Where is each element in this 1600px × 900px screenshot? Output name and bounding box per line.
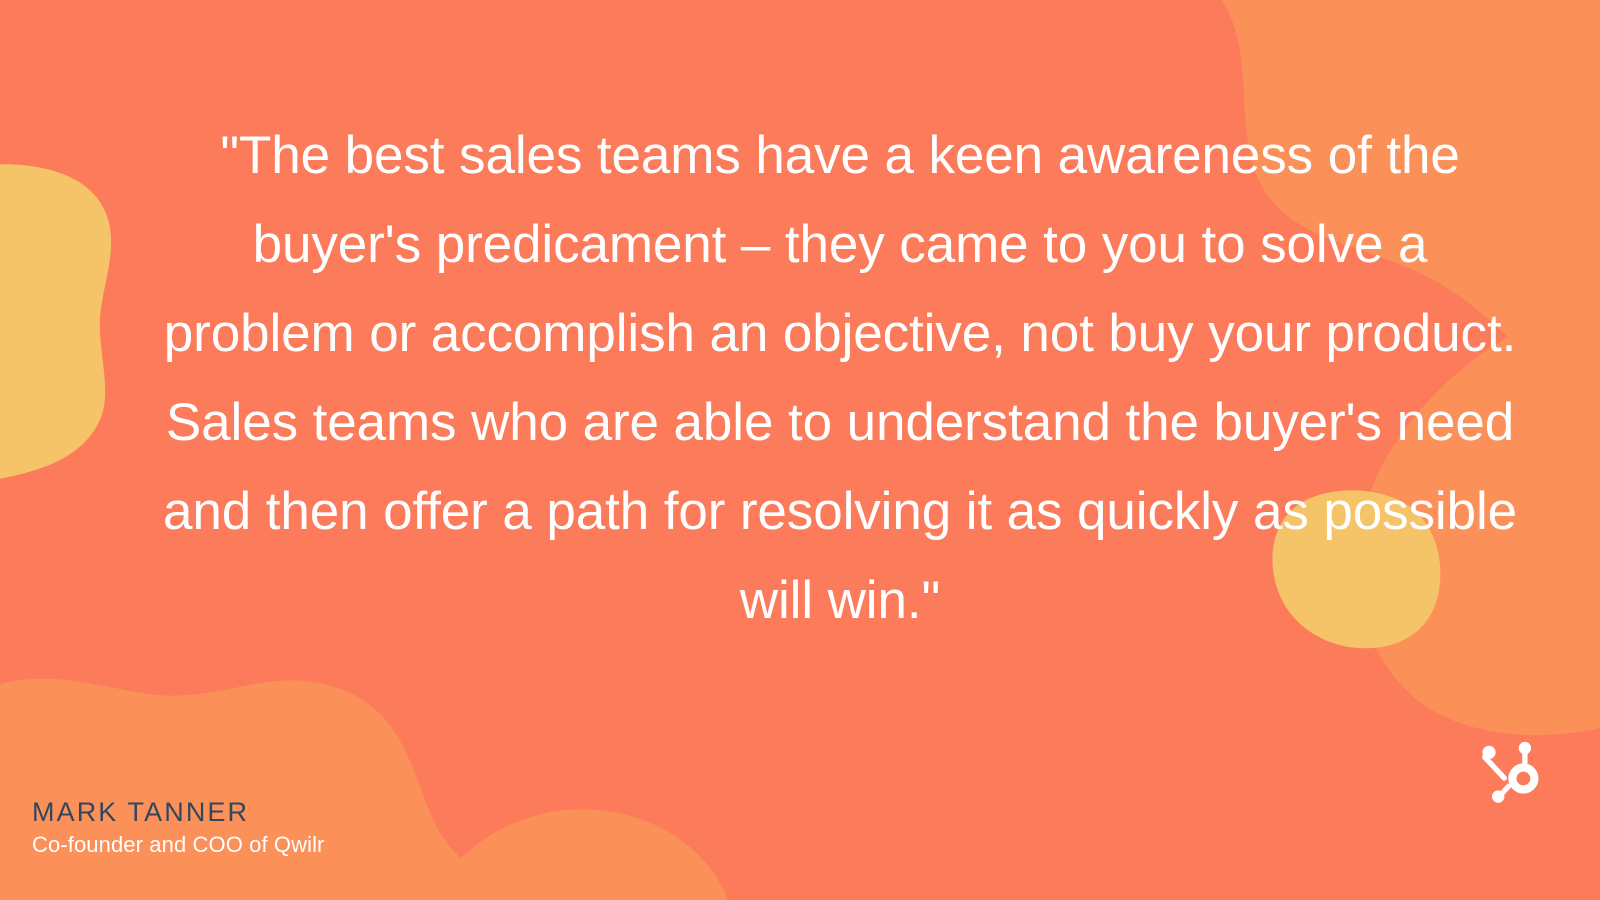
blob-bottom-left-shape-tail [430,809,728,900]
quote-text: "The best sales teams have a keen awaren… [160,111,1520,645]
blob-left-yellow-shape [0,164,111,481]
quote-card: "The best sales teams have a keen awaren… [0,0,1600,900]
hubspot-sprocket-icon [1482,738,1544,808]
attribution: MARK TANNER Co-founder and COO of Qwilr [32,798,324,858]
quote-block: "The best sales teams have a keen awaren… [160,111,1520,645]
author-role: Co-founder and COO of Qwilr [32,832,324,858]
author-name: MARK TANNER [32,798,324,828]
